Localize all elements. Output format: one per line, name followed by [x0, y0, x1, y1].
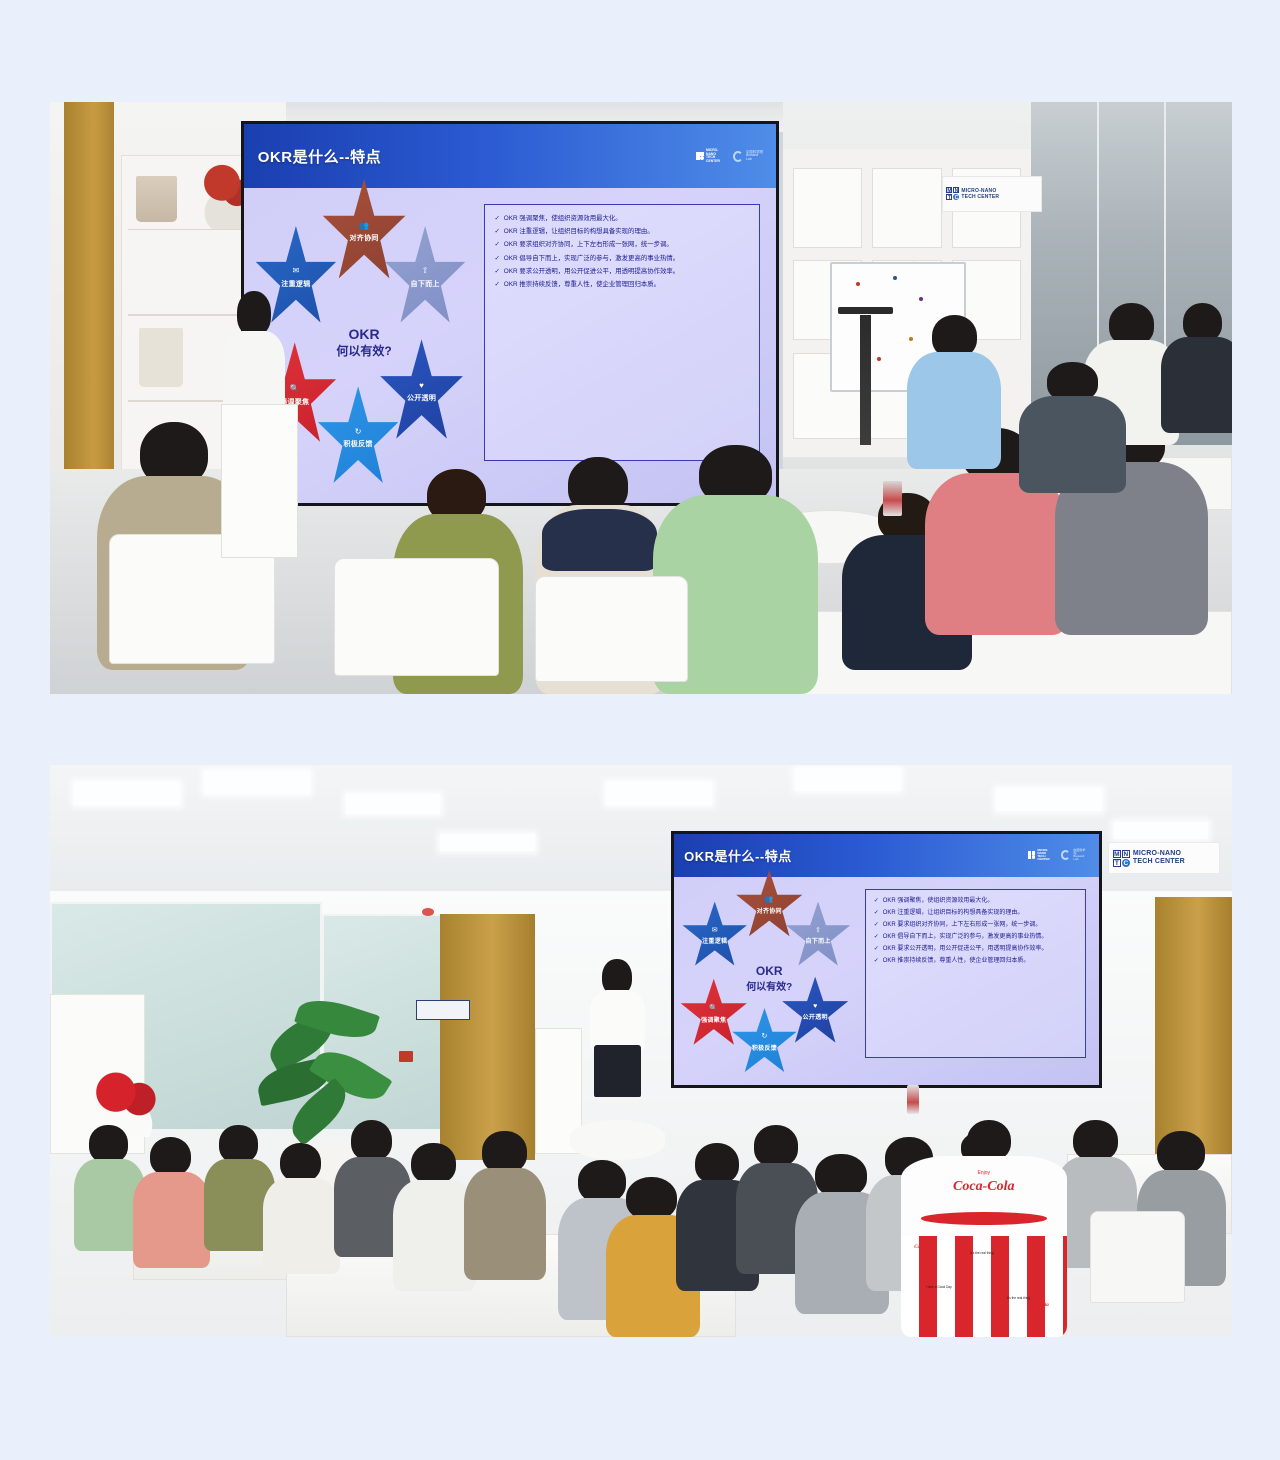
star-label: 对齐协同 — [350, 233, 379, 243]
okr-bullet-pane: ✓OKR 强调聚焦，使组织资源效用最大化。 ✓OKR 注重逻辑，让组织目标的构想… — [865, 877, 1099, 1086]
white-chair — [1090, 1211, 1185, 1303]
bullet-text: OKR 要求组织对齐协同，上下左右形成一张网，统一步调。 — [504, 240, 673, 249]
bullet-text: OKR 推崇持续反馈，尊重人性，使企业管理回归本质。 — [504, 280, 660, 289]
bullet-text: OKR 强调聚焦，使组织资源效用最大化。 — [883, 897, 994, 906]
white-chair — [535, 576, 689, 683]
slide-logo-mntc-line2: TECH CENTER — [1037, 855, 1056, 861]
star-label: 公开透明 — [803, 1012, 828, 1021]
jacket-wordmark-small: Coca-Cola — [914, 1245, 936, 1250]
star-label: 对齐协同 — [757, 906, 782, 915]
attendee-coca-cola-jacket: Enjoy Coca-Cola it's the real thing Have… — [901, 1131, 1066, 1337]
check-icon: ✓ — [874, 921, 879, 930]
search-icon: 🔍 — [709, 1005, 718, 1012]
star-label: 积极反馈 — [752, 1043, 777, 1052]
ceiling-light — [795, 768, 901, 791]
check-icon: ✓ — [874, 909, 879, 918]
ceiling-light — [204, 771, 310, 794]
wall-plaque — [416, 1000, 469, 1020]
center-label-en: OKR — [349, 326, 380, 342]
star-label: 注重逻辑 — [702, 936, 727, 945]
star-label: 自下而上 — [411, 279, 440, 289]
center-label-cn: 何以有效? — [746, 978, 792, 993]
wall-sign-line1: MICRO-NANO — [1133, 850, 1185, 858]
mail-icon: ✉ — [712, 927, 718, 934]
fire-alarm-call-point — [399, 1051, 413, 1062]
check-icon: ✓ — [494, 214, 499, 223]
bullet-text: OKR 推崇持续反馈，尊重人性，使企业管理回归本质。 — [883, 957, 1030, 966]
check-icon: ✓ — [494, 280, 499, 289]
attendee — [263, 1143, 340, 1275]
star-diagram-center: OKR 何以有效? — [723, 947, 815, 1010]
bullet-text: OKR 注重逻辑，让组织目标的构想具备实现的理由。 — [883, 909, 1024, 918]
star-label: 积极反馈 — [344, 439, 373, 449]
jacket-swoosh — [921, 1212, 1047, 1225]
check-icon: ✓ — [874, 957, 879, 966]
attendee — [1161, 303, 1232, 433]
wall-sign-line2: TECH CENTER — [1133, 858, 1185, 866]
jacket-wordmark: Coca-Cola — [901, 1179, 1066, 1195]
feedback-icon: ↻ — [355, 428, 362, 436]
mntc-logo-icon: M N T C — [946, 187, 959, 200]
slide-logo-mntc-icon: MICRO-NANO TECH CENTER — [1028, 849, 1056, 862]
star-jiji-fankui: ↻ 积极反馈 — [731, 1008, 798, 1077]
ceiling-light — [346, 794, 441, 814]
photo-okr-session-closeup: M N T C MICRO-NANO TECH CENTER — [50, 102, 1232, 694]
photo-okr-session-wide: OKR是什么--特点 MICRO-NANO TECH CENTER — [50, 765, 1232, 1337]
slide-logos: MICRO-NANO TECH CENTER 中国科学院 Biosand Lab — [696, 149, 763, 163]
ceiling-light — [74, 782, 180, 805]
wall-sign-micro-nano-tech-center: M N T C MICRO-NANO TECH CENTER — [942, 176, 1041, 212]
okr-star-diagram: 👥 对齐协同 ⇧ 自下而上 ♥ 公开透明 — [674, 877, 865, 1086]
jacket-enjoy-text: Enjoy — [901, 1170, 1066, 1176]
decor-plant-left — [136, 176, 177, 222]
ceiling-light — [1114, 822, 1209, 839]
wooden-door — [440, 914, 535, 1160]
bullet-box: ✓OKR 强调聚焦，使组织资源效用最大化。 ✓OKR 注重逻辑，让组织目标的构想… — [484, 204, 761, 461]
bullet-text: OKR 要求公开透明，用公开促进公平，用透明提高协作效率。 — [504, 267, 679, 276]
star-label: 公开透明 — [407, 393, 436, 403]
slide-title: OKR是什么--特点 — [684, 846, 792, 865]
mntc-logo-icon: M N T C — [1113, 850, 1130, 867]
jacket-slogan: Have a Good Day — [918, 1286, 961, 1290]
center-label-cn: 何以有效? — [336, 342, 391, 359]
feedback-icon: ↻ — [762, 1033, 768, 1040]
bullet-box: ✓OKR 强调聚焦，使组织资源效用最大化。 ✓OKR 注重逻辑，让组织目标的构想… — [865, 889, 1086, 1057]
water-bottle — [883, 481, 902, 517]
wall-display-screen: OKR是什么--特点 MICRO-NANO TECH CENTER — [671, 831, 1102, 1088]
bullet-text: OKR 要求公开透明，用公开促进公平，用透明提高协作效率。 — [883, 945, 1048, 954]
up-arrow-icon: ⇧ — [422, 267, 429, 275]
center-label-en: OKR — [756, 964, 783, 978]
attendee — [133, 1137, 210, 1269]
slide-body: 👥 对齐协同 ⇧ 自下而上 ♥ 公开透明 — [674, 877, 1099, 1086]
bullet-text: OKR 倡导自下而上，实现广泛的参与，激发更高的事业热情。 — [883, 933, 1048, 942]
slide-header: OKR是什么--特点 MICRO-NANO TECH CENTER — [674, 834, 1099, 877]
check-icon: ✓ — [494, 240, 499, 249]
slide-title: OKR是什么--特点 — [258, 146, 381, 167]
poster-page: M N T C MICRO-NANO TECH CENTER — [0, 0, 1280, 1460]
wooden-door-right — [1155, 897, 1232, 1160]
attendee — [464, 1131, 547, 1280]
bullet-text: OKR 要求组织对齐协同，上下左右形成一张网，统一步调。 — [883, 921, 1042, 930]
slide-logo-lab-icon: 中国科学院 Biosand Lab — [733, 151, 763, 162]
check-icon: ✓ — [874, 933, 879, 942]
presenter — [221, 291, 286, 421]
wall-sign-micro-nano-tech-center: M N T C MICRO-NANO TECH CENTER — [1108, 842, 1220, 874]
wall-sign-line2: TECH CENTER — [961, 194, 999, 200]
check-icon: ✓ — [874, 897, 879, 906]
round-table — [570, 1120, 665, 1160]
slide-logo-mntc-icon: MICRO-NANO TECH CENTER — [696, 149, 728, 163]
attendee — [907, 315, 1002, 469]
people-icon: 👥 — [359, 222, 369, 230]
star-label: 自下而上 — [805, 936, 830, 945]
ceiling-light — [996, 788, 1102, 811]
up-arrow-icon: ⇧ — [815, 927, 821, 934]
jacket-wordmark-small: Coca-Cola — [1027, 1303, 1049, 1308]
ceiling-light — [606, 782, 712, 805]
mail-icon: ✉ — [293, 267, 300, 275]
bullet-text: OKR 注重逻辑，让组织目标的构想具备实现的理由。 — [504, 227, 654, 236]
check-icon: ✓ — [874, 945, 879, 954]
wall-sign-line1: MICRO-NANO — [961, 188, 999, 194]
slide-logo-lab-line2: Biosand Lab — [746, 154, 763, 161]
bullet-text: OKR 倡导自下而上，实现广泛的参与，激发更高的事业热情。 — [504, 254, 679, 263]
slide-logo-lab-line2: Biosand Lab — [1073, 855, 1088, 862]
water-bottle — [907, 1085, 919, 1114]
check-icon: ✓ — [494, 227, 499, 236]
search-icon: 🔍 — [290, 385, 300, 393]
people-icon: 👥 — [765, 896, 774, 903]
slide-okr-features: OKR是什么--特点 MICRO-NANO TECH CENTER — [674, 834, 1099, 1085]
jacket-slogan: it's the real thing — [997, 1297, 1040, 1301]
star-jiji-fankui: ↻ 积极反馈 — [316, 386, 400, 490]
coca-cola-jacket: Enjoy Coca-Cola it's the real thing Have… — [901, 1156, 1066, 1337]
check-icon: ✓ — [494, 267, 499, 276]
star-label: 强调聚焦 — [701, 1015, 726, 1024]
whiteboard-panel-front — [221, 404, 298, 558]
star-diagram-center: OKR 何以有效? — [307, 295, 422, 389]
slide-logo-mntc-line2: TECH CENTER — [706, 156, 727, 163]
presenter — [588, 959, 647, 1096]
decor-box — [139, 328, 183, 387]
bullet-text: OKR 强调聚焦，使组织资源效用最大化。 — [504, 214, 622, 223]
slide-logo-lab-icon: 中国科学院 Biosand Lab — [1061, 849, 1088, 862]
star-label: 注重逻辑 — [281, 279, 310, 289]
jacket-slogan: it's the real thing — [961, 1252, 1004, 1256]
slide-header: OKR是什么--特点 MICRO-NANO TECH CENTER — [244, 124, 776, 188]
attendee — [1019, 362, 1125, 492]
white-chair — [334, 558, 499, 676]
check-icon: ✓ — [494, 254, 499, 263]
slide-logos: MICRO-NANO TECH CENTER 中国科学院 Biosand Lab — [1028, 849, 1089, 862]
microphone-stand — [860, 315, 872, 445]
ceiling-light — [440, 834, 535, 851]
